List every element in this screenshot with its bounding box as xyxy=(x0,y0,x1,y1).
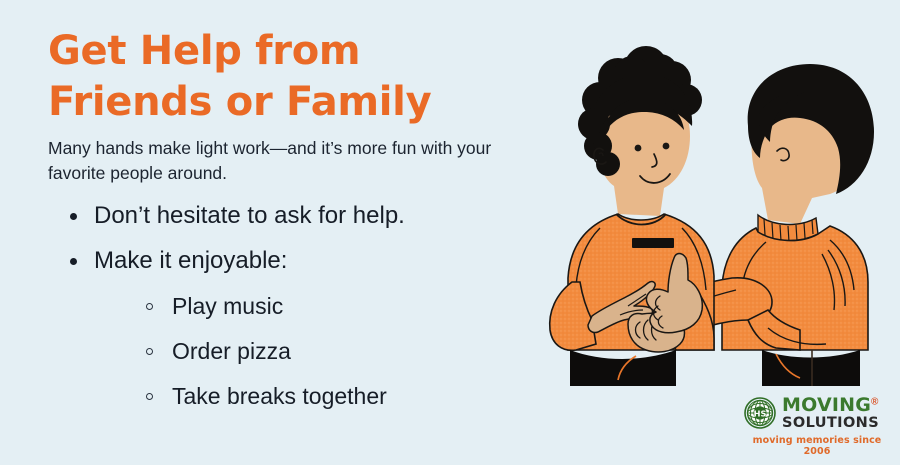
moving-solutions-logo: HS MOVING® SOLUTIONS moving memories sin… xyxy=(744,396,890,444)
registered-trademark-icon: ® xyxy=(871,397,878,408)
sub-list-item: Order pizza xyxy=(94,340,548,363)
sub-list-item-label: Order pizza xyxy=(172,338,291,364)
logo-wordmark: MOVING® SOLUTIONS xyxy=(782,396,879,431)
logo-tagline: moving memories since 2006 xyxy=(744,435,890,457)
bullet-dot-icon xyxy=(70,213,77,220)
text-column: Get Help from Friends or Family Many han… xyxy=(48,26,548,429)
bullet-dot-icon xyxy=(70,258,77,265)
list-item: Don’t hesitate to ask for help. xyxy=(48,204,548,228)
two-people-fist-bump-illustration xyxy=(500,38,900,386)
list-item-label: Don’t hesitate to ask for help. xyxy=(94,202,405,229)
bullet-circle-icon xyxy=(146,393,153,400)
page-title: Get Help from Friends or Family xyxy=(48,26,548,128)
logo-primary-word: MOVING xyxy=(782,396,871,415)
list-item-label: Make it enjoyable: xyxy=(94,247,287,274)
bullet-circle-icon xyxy=(146,348,153,355)
bullet-list: Don’t hesitate to ask for help. Make it … xyxy=(48,204,548,408)
sub-list-item: Take breaks together xyxy=(94,385,548,408)
sub-list-item-label: Play music xyxy=(172,293,283,319)
subheading-text: Many hands make light work—and it’s more… xyxy=(48,136,530,186)
logo-secondary-word: SOLUTIONS xyxy=(782,416,879,431)
svg-text:HS: HS xyxy=(754,409,767,419)
sub-list-item: Play music xyxy=(94,295,548,318)
moving-solutions-globe-icon: HS xyxy=(744,397,776,429)
sub-bullet-list: Play music Order pizza Take breaks toget… xyxy=(94,295,548,408)
slide-canvas: Get Help from Friends or Family Many han… xyxy=(0,0,900,465)
list-item: Make it enjoyable: Play music Order pizz… xyxy=(48,249,548,408)
bullet-circle-icon xyxy=(146,303,153,310)
sub-list-item-label: Take breaks together xyxy=(172,383,387,409)
logo-row: HS MOVING® SOLUTIONS xyxy=(744,396,890,431)
